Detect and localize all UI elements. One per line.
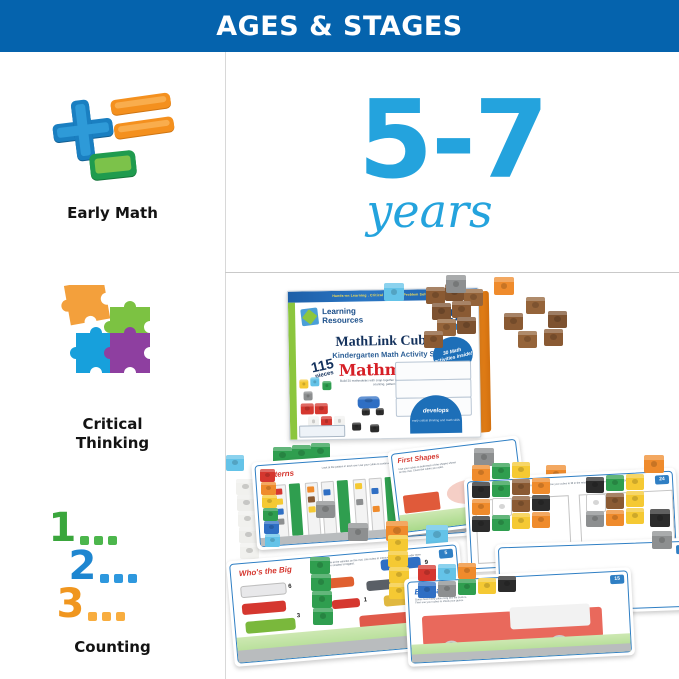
age-unit-label: years — [366, 188, 492, 234]
feature-label-critical-thinking: Critical Thinking — [76, 415, 149, 453]
develops-sub: early critical thinking and math skills — [410, 418, 462, 423]
feature-label-line-2: Thinking — [76, 434, 149, 452]
counting-row-1: 1 — [49, 508, 123, 548]
brand-line-2: Resources — [322, 315, 363, 325]
develops-label: develops — [423, 408, 449, 414]
vehicle-number-6: 6 — [288, 584, 292, 590]
mat-estimation-badge: 15 — [610, 574, 624, 584]
counting-dots-2 — [100, 574, 142, 583]
warning-label — [299, 425, 345, 438]
counting-numeral-3: 3 — [57, 584, 85, 624]
fire-truck-cab-art — [509, 603, 590, 629]
counting-row-2: 2 — [69, 546, 143, 586]
puzzle-piece-purple-icon — [104, 327, 150, 373]
feature-label-line-1: Critical — [82, 415, 142, 433]
feature-critical-thinking: Critical Thinking — [0, 261, 225, 453]
feature-early-math: Early Math — [0, 52, 225, 223]
page-title: AGES & STAGES — [216, 11, 463, 42]
puzzle-piece-orange-icon — [56, 285, 109, 326]
vehicle-number-1: 1 — [363, 597, 367, 603]
features-column: Early Math — [0, 52, 225, 679]
vehicle-number-3: 3 — [297, 613, 301, 619]
puzzle-pieces-icon — [48, 285, 178, 405]
mat-whos-the-biggest-title: Who's the Big — [239, 565, 293, 579]
early-math-icon — [43, 84, 183, 194]
header-banner: AGES & STAGES — [0, 0, 679, 52]
vehicle-sports-car — [245, 618, 296, 634]
feature-label-early-math: Early Math — [67, 204, 158, 223]
age-range-value: 5-7 — [358, 90, 547, 193]
vehicle-ambulance — [240, 582, 287, 598]
age-panel: 5-7 years — [226, 52, 679, 272]
feature-counting: 1 2 3 — [0, 482, 225, 657]
vehicle-race-car — [242, 600, 287, 615]
product-box-green-bar — [288, 303, 297, 440]
counting-numbers-icon: 1 2 3 — [43, 508, 183, 628]
brand-cube-icon — [300, 307, 319, 326]
feature-label-counting: Counting — [74, 638, 150, 657]
equals-sign-icon — [109, 92, 177, 148]
ages-and-stages-infographic: AGES & STAGES Early Math — [0, 0, 679, 679]
brand-logo: Learning Resources — [301, 306, 363, 325]
counting-numeral-1: 1 — [49, 508, 77, 548]
develops-badge: develops early critical thinking and mat… — [410, 395, 463, 434]
brand-name: Learning Resources — [322, 306, 363, 325]
counting-numeral-2: 2 — [69, 546, 97, 586]
product-photo: Hands-on Learning . Critical Thinking . … — [226, 273, 679, 679]
minus-sign-icon — [88, 150, 136, 181]
counting-row-3: 3 — [57, 584, 131, 624]
mat-grid-upper-badge: 24 — [655, 475, 669, 485]
mat-whos-the-biggest-badge: 5 — [439, 549, 454, 559]
counting-dots-3 — [88, 612, 130, 621]
vehicle-motorcycle — [332, 598, 361, 609]
